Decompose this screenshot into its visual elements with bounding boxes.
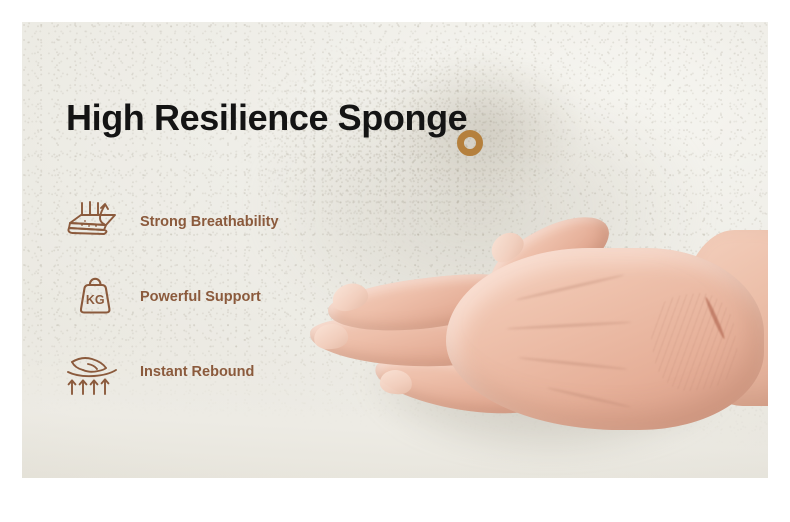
kg-icon-text: KG	[86, 293, 105, 307]
page-title: High Resilience Sponge	[66, 97, 467, 139]
kg-weight-icon: KG	[60, 272, 128, 322]
feature-label: Powerful Support	[140, 289, 261, 305]
product-banner: High Resilience Sponge	[0, 0, 790, 522]
feature-strong-breathability: Strong Breathability	[60, 196, 310, 248]
hand-press-rebound-arrows-icon	[60, 347, 128, 397]
feature-label: Strong Breathability	[140, 214, 279, 230]
feature-list: Strong Breathability KG Powerful Support	[60, 196, 310, 421]
hand-pressing-sponge-photo	[300, 220, 768, 478]
feature-powerful-support: KG Powerful Support	[60, 271, 310, 323]
feature-label: Instant Rebound	[140, 364, 254, 380]
breathable-mat-airflow-icon	[60, 197, 128, 247]
feature-instant-rebound: Instant Rebound	[60, 346, 310, 398]
